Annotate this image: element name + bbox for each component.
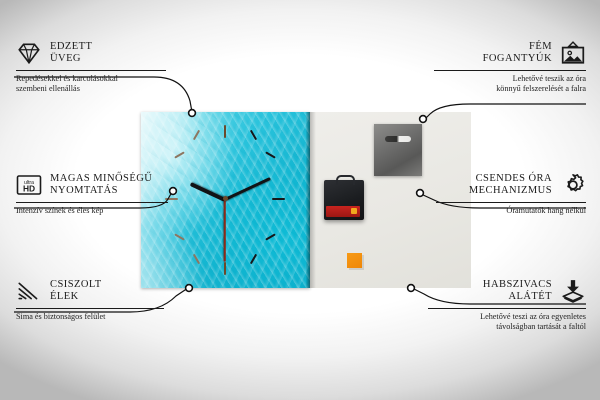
foam-spacer-pad (347, 253, 362, 268)
clock-tick-2 (265, 151, 276, 158)
polished-edge-icon (16, 278, 42, 304)
feature-title-line2: ÜVEG (50, 53, 81, 64)
feature-desc-line1: Intenzív színek és éles kép (16, 206, 103, 215)
feature-magas-minosegu-nyomtatas: ultra HD MAGAS MINŐSÉGŰ NYOMTATÁS Intenz… (16, 172, 168, 216)
feature-desc-line1: Repedésekkel és karcolásokkal (16, 74, 118, 83)
feature-csiszolt-elek: CSISZOLT ÉLEK Sima és biztonságos felüle… (16, 278, 164, 322)
divider (428, 308, 586, 309)
feature-title-line1: CSENDES ÓRA (476, 173, 552, 184)
mechanism-hook (336, 175, 355, 185)
diamond-icon (16, 40, 42, 66)
feature-title-line1: CSISZOLT (50, 279, 102, 290)
clock-tick-8 (174, 233, 185, 240)
metal-hanger-plate (374, 124, 422, 176)
wall-hanging-frame-icon (560, 40, 586, 66)
feature-desc-line1: Lehetővé teszik az óra (513, 74, 586, 83)
feature-fem-fogantyuk: FÉM FOGANTYÚK Lehetővé teszik az óra kön… (434, 40, 586, 94)
divider (16, 308, 164, 309)
feature-habszivacs-alatet: HABSZIVACS ALÁTÉT Lehetővé teszi az óra … (428, 278, 586, 332)
clock-tick-6 (224, 262, 226, 275)
feature-desc-line2: távolságban tartását a faltól (496, 322, 586, 331)
divider (434, 70, 586, 71)
clock-tick-4 (265, 233, 276, 240)
feature-desc-line1: Sima és biztonságos felület (16, 312, 105, 321)
clock-tick-1 (250, 130, 257, 141)
feature-title-line2: MECHANIZMUS (469, 185, 552, 196)
feature-title-line1: EDZETT (50, 41, 92, 52)
infographic-canvas: EDZETT ÜVEG Repedésekkel és karcolásokka… (0, 0, 600, 400)
battery (326, 206, 360, 217)
clock-tick-5 (250, 254, 257, 265)
feature-csendes-ora-mechanizmus: CSENDES ÓRA MECHANIZMUS Óramutatók hang … (436, 172, 586, 216)
feature-title-line1: MAGAS MINŐSÉGŰ (50, 173, 152, 184)
divider (16, 202, 168, 203)
feature-desc-line2: könnyű felszerelését a falra (496, 84, 586, 93)
clock-minute-hand (224, 177, 271, 201)
clock-hour-hand (190, 182, 226, 202)
divider (16, 70, 166, 71)
hanger-slot (385, 136, 411, 142)
product-photo (141, 112, 471, 288)
battery-terminal (351, 208, 357, 214)
feature-edzett-uveg: EDZETT ÜVEG Repedésekkel és karcolásokka… (16, 40, 166, 94)
clock-tick-12 (224, 125, 226, 138)
clock-second-hand (224, 200, 226, 262)
feature-title-line2: FOGANTYÚK (483, 53, 552, 64)
clock-tick-10 (174, 151, 185, 158)
divider (436, 202, 586, 203)
gear-icon (560, 172, 586, 198)
clock-tick-11 (193, 130, 200, 141)
clock-mechanism (324, 180, 364, 220)
clock-tick-3 (272, 198, 285, 200)
ultra-hd-icon: ultra HD (16, 172, 42, 198)
feature-desc-line1: Óramutatók hang nélkül (506, 206, 586, 215)
foam-layers-arrow-icon (560, 278, 586, 304)
feature-title-line1: FÉM (529, 41, 552, 52)
feature-title-line2: ALÁTÉT (508, 291, 552, 302)
feature-desc-line1: Lehetővé teszi az óra egyenletes (480, 312, 586, 321)
feature-title-line2: NYOMTATÁS (50, 185, 118, 196)
feature-title-line1: HABSZIVACS (483, 279, 552, 290)
clock-tick-7 (193, 254, 200, 265)
svg-text:HD: HD (23, 184, 35, 194)
feature-title-line2: ÉLEK (50, 291, 79, 302)
feature-desc-line2: szembeni ellenállás (16, 84, 80, 93)
clock-center-hub (223, 196, 228, 201)
